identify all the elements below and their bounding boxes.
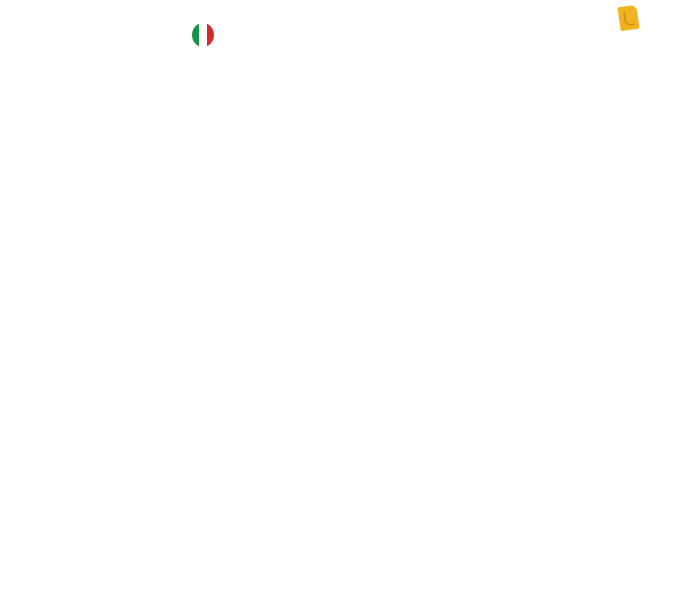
italian-flag-icon (192, 23, 214, 47)
acquario-logo (518, 8, 668, 10)
page-header (0, 0, 680, 72)
logo-book-icon (617, 5, 639, 31)
calendar-page (0, 0, 680, 603)
